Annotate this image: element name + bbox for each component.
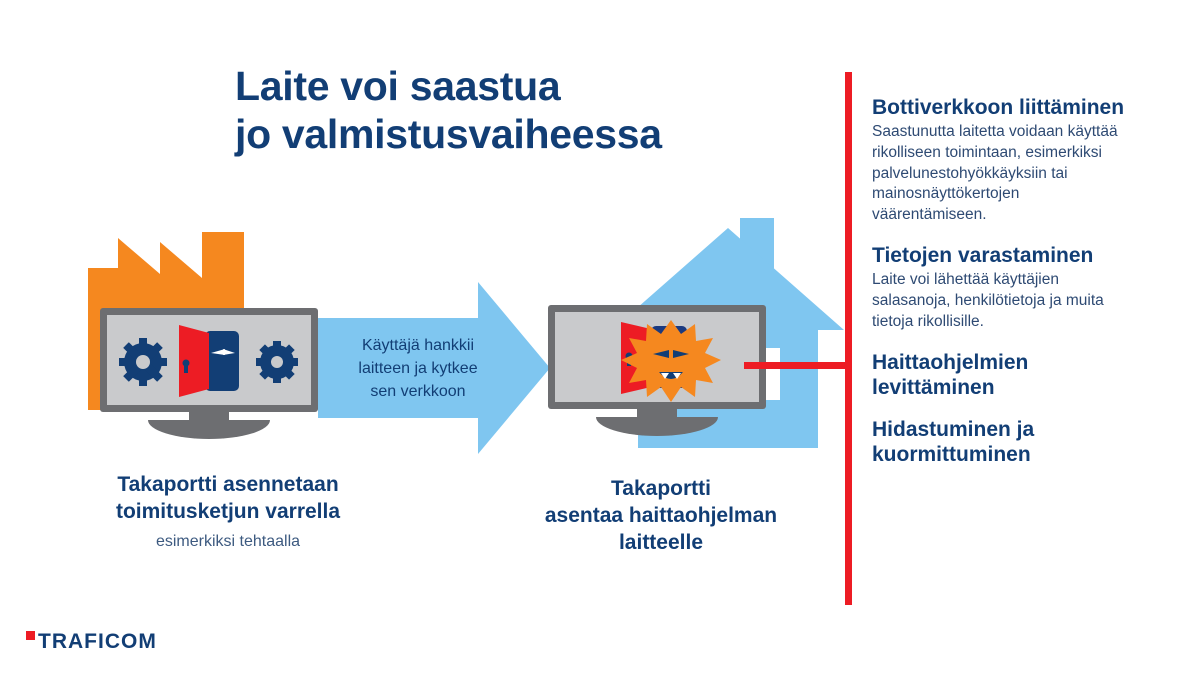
consequences-list: Bottiverkkoon liittäminen Saastunutta la…: [872, 95, 1127, 467]
monitor-base: [596, 417, 718, 436]
arrow-label-line-1: Käyttäjä hankkii: [332, 334, 504, 357]
arrow-label-line-3: sen verkkoon: [332, 380, 504, 403]
consequence-body: Saastunutta laitetta voidaan käyttää rik…: [872, 122, 1127, 226]
consequence-heading: Tietojen varastaminen: [872, 243, 1127, 268]
consequence-item: Hidastuminen ja kuormittuminen: [872, 417, 1127, 467]
consequence-item: Tietojen varastaminen Laite voi lähettää…: [872, 243, 1127, 332]
open-door-icon: [179, 325, 209, 397]
gear-icon: [256, 341, 298, 383]
logo-wordmark: TRAFICOM: [38, 630, 157, 654]
arrow-label-line-2: laitteen ja kytkee: [332, 357, 504, 380]
gear-icon: [119, 338, 167, 386]
caption-left-subtext: esimerkiksi tehtaalla: [48, 533, 408, 551]
infographic-canvas: Laite voi saastua jo valmistusvaiheessa …: [0, 0, 1200, 675]
malware-scene-right: [555, 312, 759, 402]
caption-left: Takaportti asennetaan toimitusketjun var…: [48, 472, 408, 551]
monitor-base: [148, 420, 270, 439]
consequence-body: Laite voi lähettää käyttäjien salasanoja…: [872, 270, 1127, 332]
connector-line-vertical: [845, 72, 852, 605]
arrow-label: Käyttäjä hankkii laitteen ja kytkee sen …: [332, 334, 504, 404]
title-line-1: Laite voi saastua: [235, 62, 795, 110]
monitor-bezel: [548, 305, 766, 409]
monitor-screen: [107, 315, 311, 405]
monitor-bezel: [100, 308, 318, 412]
caption-right: Takaportti asentaa haittaohjelman laitte…: [485, 476, 837, 557]
backdoor-scene-left: [107, 315, 311, 405]
monitor-screen: [555, 312, 759, 402]
caption-right-line-3: laitteelle: [485, 530, 837, 557]
caption-right-line-2: asentaa haittaohjelman: [485, 503, 837, 530]
hacker-figure-icon: [205, 331, 239, 391]
consequence-heading: Haittaohjelmien levittäminen: [872, 350, 1127, 400]
consequence-heading: Hidastuminen ja kuormittuminen: [872, 417, 1127, 467]
logo-mark-icon: [26, 631, 35, 640]
title-line-2: jo valmistusvaiheessa: [235, 110, 795, 158]
page-title: Laite voi saastua jo valmistusvaiheessa: [235, 62, 795, 159]
connector-line-horizontal: [744, 362, 848, 369]
caption-left-line-2: toimitusketjun varrella: [48, 499, 408, 526]
monitor-icon-left: [100, 308, 318, 443]
caption-right-line-1: Takaportti: [485, 476, 837, 503]
consequence-item: Bottiverkkoon liittäminen Saastunutta la…: [872, 95, 1127, 226]
consequence-item: Haittaohjelmien levittäminen: [872, 350, 1127, 400]
consequence-heading: Bottiverkkoon liittäminen: [872, 95, 1127, 120]
traficom-logo: TRAFICOM: [26, 630, 157, 654]
caption-left-line-1: Takaportti asennetaan: [48, 472, 408, 499]
monitor-icon-right: [548, 305, 766, 440]
